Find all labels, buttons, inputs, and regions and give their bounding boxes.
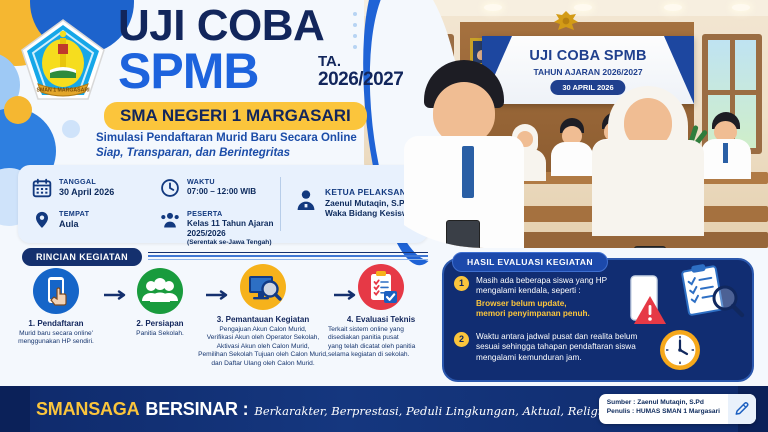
info-value: Aula <box>59 219 89 229</box>
school-crest-logo: SMAN 1 MARGASARI <box>20 18 106 102</box>
subtitle-secondary: Siap, Transparan, dan Berintegritas <box>96 147 290 159</box>
student-background <box>560 118 593 176</box>
calendar-icon <box>32 177 52 199</box>
info-note: (Serentak se-Jawa Tengah) <box>187 239 273 246</box>
evaluation-item: 2 Waktu antara jadwal pusat dan realita … <box>454 332 726 363</box>
credit-box: Sumber : Zaenul Mutaqin, S.Pd Penulis : … <box>599 394 756 424</box>
info-value: 30 April 2026 <box>59 187 114 197</box>
decor-circle-pale <box>62 120 80 138</box>
info-item-peserta: PESERTA Kelas 11 Tahun Ajaran 2025/2026 … <box>160 209 273 246</box>
evaluation-text: Masih ada beberapa siswa yang HP mengala… <box>476 276 607 297</box>
evaluation-section-title: HASIL EVALUASI KEGIATAN <box>452 252 608 272</box>
page-title-line1: UJI COBA <box>118 4 324 48</box>
evaluation-item: 1 Masih ada beberapa siswa yang HP menga… <box>454 276 654 320</box>
poster-canvas: UJI COBA SPMB TAHUN AJARAN 2026/2027 30 … <box>0 0 768 432</box>
monitor-search-icon <box>240 264 286 310</box>
location-pin-icon <box>32 209 52 231</box>
footer-tagline: Berkarakter, Berprestasi, Peduli Lingkun… <box>254 404 614 418</box>
person-icon <box>294 187 318 213</box>
credit-author: Penulis : HUMAS SMAN 1 Margasari <box>607 407 720 416</box>
academic-year-label: TA. <box>318 54 341 70</box>
evaluation-number: 2 <box>454 332 469 347</box>
academic-year-value: 2026/2027 <box>318 70 403 90</box>
activity-step: 2. Persiapan Panitia Sekolah. <box>118 268 202 338</box>
activity-steps: 1. Pendaftaran Murid baru secara online'… <box>8 268 438 384</box>
activity-step: 1. Pendaftaran Murid baru secara online'… <box>8 268 104 347</box>
info-label: PESERTA <box>187 209 273 218</box>
people-icon <box>160 209 180 231</box>
evaluation-number: 1 <box>454 276 469 291</box>
info-value: Kelas 11 Tahun Ajaran 2025/2026 <box>187 219 273 238</box>
info-item-waktu: WAKTU 07:00 – 12:00 WIB <box>160 177 256 199</box>
step-title: 3. Pemantauan Kegiatan <box>192 315 334 324</box>
step-desc: Pengajuan Akun Calon Murid, Verifikasi A… <box>192 326 334 368</box>
school-name-badge: SMA NEGERI 1 MARGASARI <box>104 102 367 130</box>
activities-section-title: RINCIAN KEGIATAN <box>22 248 142 266</box>
phone-tap-icon <box>33 268 79 314</box>
pencil-icon <box>728 394 756 424</box>
student-background <box>712 112 751 163</box>
student-foreground-boy <box>424 60 524 248</box>
evaluation-panel: 1 Masih ada beberapa siswa yang HP menga… <box>442 258 754 382</box>
section-rule <box>148 252 428 263</box>
step-title: 2. Persiapan <box>118 319 202 328</box>
footer-tagline-group: SMANSAGA BERSINAR : Berkarakter, Berpres… <box>36 399 615 420</box>
clipboard-magnifier-icon <box>674 262 746 328</box>
info-value: 07:00 – 12:00 WIB <box>187 187 256 197</box>
step-desc: Panitia Sekolah. <box>118 330 202 338</box>
step-desc: Murid baru secara online' menggunakan HP… <box>8 330 104 347</box>
svg-text:SMAN 1 MARGASARI: SMAN 1 MARGASARI <box>36 88 90 94</box>
activity-step: 3. Pemantauan Kegiatan Pengajuan Akun Ca… <box>192 264 334 368</box>
info-divider <box>280 177 281 231</box>
info-label: WAKTU <box>187 177 256 186</box>
footer-brand-2: BERSINAR : <box>145 399 248 420</box>
step-title: 4. Evaluasi Teknis <box>320 315 442 324</box>
clipboard-check-icon <box>358 264 404 310</box>
info-item-tanggal: TANGGAL 30 April 2026 <box>32 177 114 199</box>
garuda-emblem-icon <box>552 10 580 32</box>
step-title: 1. Pendaftaran <box>8 319 104 328</box>
step-desc: Terkait sistem online yang disediakan pa… <box>320 326 442 360</box>
footer-bar: SMANSAGA BERSINAR : Berkarakter, Berpres… <box>0 386 768 432</box>
activity-step: 4. Evaluasi Teknis Terkait sistem online… <box>320 264 442 360</box>
student-foreground-girl <box>608 86 704 248</box>
info-label: TANGGAL <box>59 177 114 186</box>
evaluation-highlight: Browser belum update, memori penyimpanan… <box>476 299 607 320</box>
footer-edge-left <box>0 386 30 432</box>
info-item-tempat: TEMPAT Aula <box>32 209 89 231</box>
info-label: TEMPAT <box>59 209 89 218</box>
event-info-card: TANGGAL 30 April 2026 WAKTU 07:00 – 12:0… <box>18 165 428 243</box>
group-people-icon <box>137 268 183 314</box>
subtitle-primary: Simulasi Pendaftaran Murid Baru Secara O… <box>96 132 357 144</box>
page-title-line2: SPMB <box>118 46 258 96</box>
evaluation-text: Waktu antara jadwal pusat dan realita be… <box>476 332 637 363</box>
footer-brand: SMANSAGA <box>36 399 139 420</box>
credit-source: Sumber : Zaenul Mutaqin, S.Pd <box>607 398 720 407</box>
clock-icon <box>160 177 180 199</box>
